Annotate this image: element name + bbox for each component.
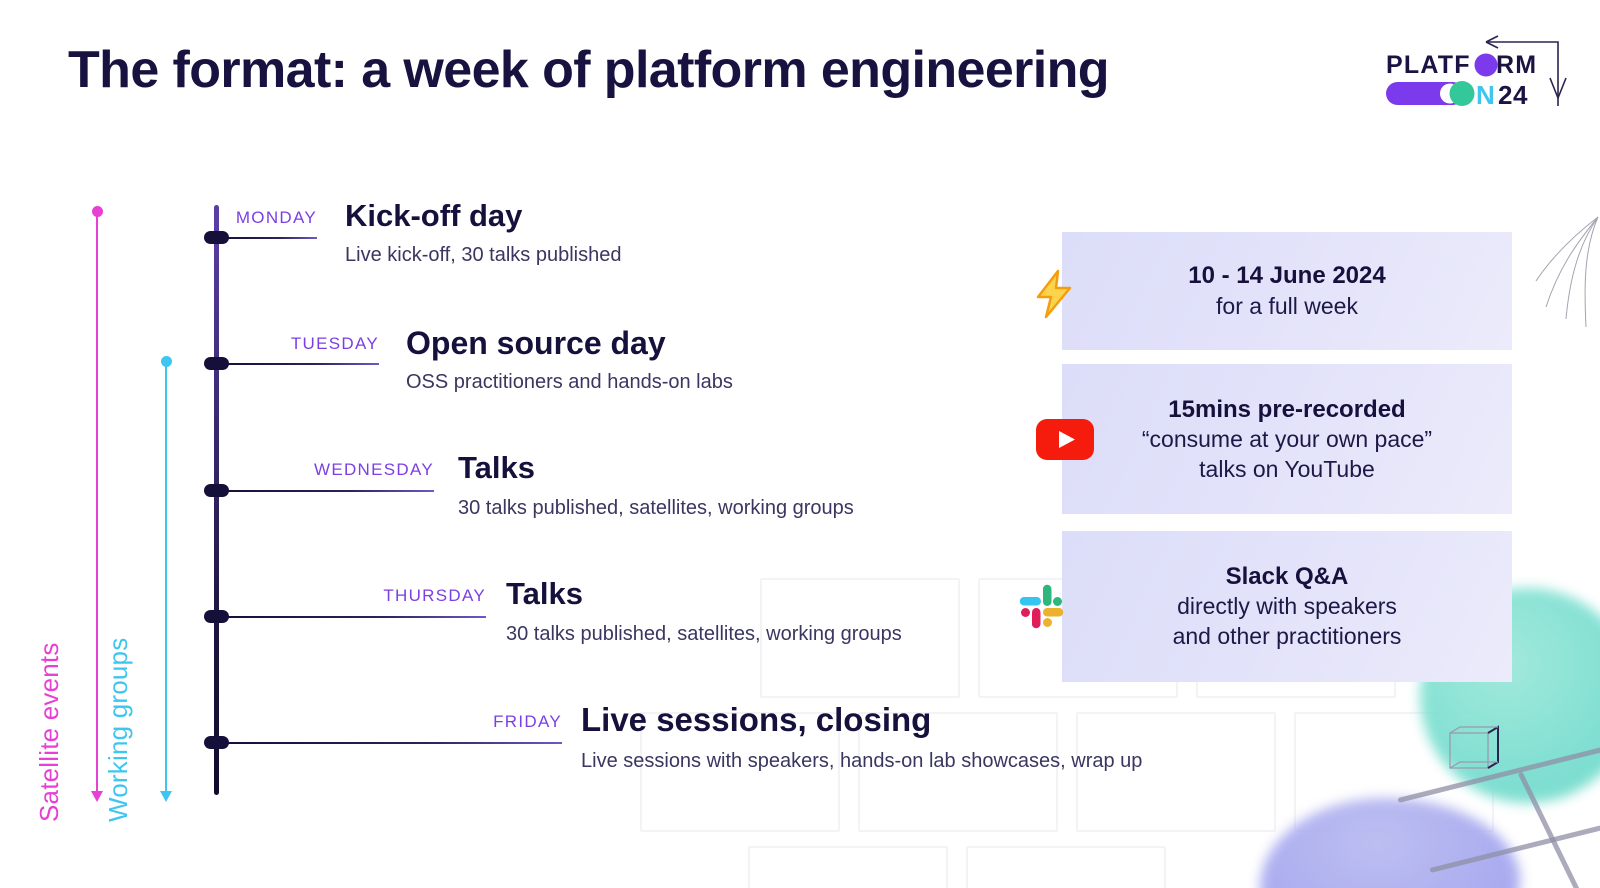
timeline-event-title: Open source day xyxy=(406,325,666,362)
timeline-event-title: Kick-off day xyxy=(345,198,522,234)
decor-diagonal-line xyxy=(1429,812,1600,872)
timeline-connector xyxy=(222,742,562,744)
timeline-day-label: FRIDAY xyxy=(402,712,562,732)
decor-wireframe-cube xyxy=(1442,723,1512,783)
info-card-line: 10 - 14 June 2024 xyxy=(1188,260,1385,291)
decor-rect xyxy=(748,846,948,888)
info-card-line: 15mins pre-recorded xyxy=(1142,394,1432,425)
svg-text:RM: RM xyxy=(1496,51,1537,79)
lightning-bolt-icon xyxy=(1028,268,1080,320)
info-card-text: 10 - 14 June 2024 for a full week xyxy=(1188,260,1385,321)
range-label: Working groups xyxy=(103,638,134,822)
range-arrow-icon xyxy=(91,791,103,802)
info-card-text: Slack Q&A directly with speakers and oth… xyxy=(1173,561,1402,652)
timeline-event-subtitle: 30 talks published, satellites, working … xyxy=(458,497,854,520)
timeline-event-subtitle: 30 talks published, satellites, working … xyxy=(506,623,902,646)
svg-text:C: C xyxy=(1454,80,1473,110)
range-arrow-icon xyxy=(160,791,172,802)
info-card-text: 15mins pre-recorded “consume at your own… xyxy=(1142,394,1432,485)
decor-diagonal-line xyxy=(1518,771,1600,888)
range-stem xyxy=(165,361,167,791)
range-stem xyxy=(96,211,98,791)
info-card-line: directly with speakers xyxy=(1173,592,1402,622)
page-title: The format: a week of platform engineeri… xyxy=(68,40,1109,100)
timeline-day-label: TUESDAY xyxy=(219,334,379,354)
timeline-connector xyxy=(222,490,434,492)
timeline-event-title: Talks xyxy=(506,576,583,612)
info-card-line: “consume at your own pace” xyxy=(1142,425,1432,455)
decor-diagonal-line xyxy=(1397,740,1600,803)
svg-text:PLATF: PLATF xyxy=(1386,51,1471,79)
timeline-connector xyxy=(222,616,486,618)
decor-rect xyxy=(966,846,1166,888)
timeline-day-label: THURSDAY xyxy=(326,586,486,606)
timeline-event-title: Live sessions, closing xyxy=(581,701,931,739)
range-label: Satellite events xyxy=(34,642,65,822)
svg-text:24: 24 xyxy=(1498,80,1528,110)
timeline-connector xyxy=(222,363,379,365)
timeline-day-label: WEDNESDAY xyxy=(234,460,434,480)
info-card-line: for a full week xyxy=(1188,292,1385,322)
timeline-event-subtitle: Live sessions with speakers, hands-on la… xyxy=(581,750,1142,773)
info-card-youtube[interactable]: 15mins pre-recorded “consume at your own… xyxy=(1062,364,1512,514)
timeline-axis xyxy=(214,205,219,795)
decor-blob-purple xyxy=(1260,798,1520,888)
info-card-dates[interactable]: 10 - 14 June 2024 for a full week xyxy=(1062,232,1512,350)
timeline-event-subtitle: Live kick-off, 30 talks published xyxy=(345,244,621,267)
timeline-day-label: MONDAY xyxy=(157,208,317,228)
decor-rect xyxy=(1294,712,1494,832)
slack-icon xyxy=(1015,580,1069,634)
info-card-slack[interactable]: Slack Q&A directly with speakers and oth… xyxy=(1062,531,1512,682)
youtube-icon[interactable] xyxy=(1036,419,1094,460)
timeline-connector xyxy=(222,237,317,239)
info-card-line: and other practitioners xyxy=(1173,622,1402,652)
info-card-line: Slack Q&A xyxy=(1173,561,1402,592)
timeline-event-title: Talks xyxy=(458,450,535,486)
svg-text:N: N xyxy=(1476,80,1495,110)
info-card-line: talks on YouTube xyxy=(1142,455,1432,485)
timeline-event-subtitle: OSS practitioners and hands-on labs xyxy=(406,371,733,394)
platformcon-logo: PLATF RM C N 24 xyxy=(1380,28,1572,116)
